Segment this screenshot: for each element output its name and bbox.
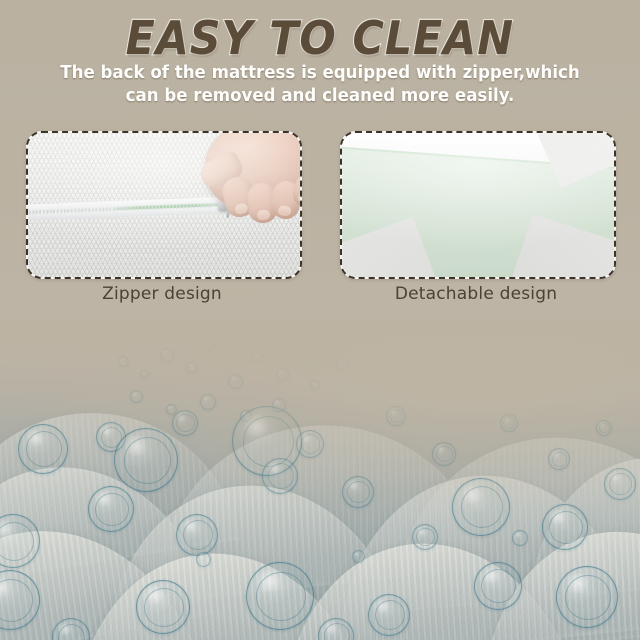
headline-container: EASY TO CLEAN — [0, 12, 640, 64]
bubble — [300, 346, 309, 355]
bubble — [172, 410, 198, 436]
bubble — [336, 358, 348, 370]
bubble — [88, 486, 134, 532]
bubble — [604, 468, 636, 500]
bubble — [176, 514, 218, 556]
caption-zipper-design: Zipper design — [26, 284, 298, 304]
product-feature-image: EASY TO CLEAN The back of the mattress i… — [0, 0, 640, 640]
bubble — [206, 340, 216, 350]
bubble — [228, 374, 243, 389]
bubble — [200, 394, 216, 410]
bubble — [542, 504, 588, 550]
bubble — [452, 478, 510, 536]
bubble — [114, 428, 178, 492]
bubble — [386, 406, 406, 426]
bubble — [160, 348, 174, 362]
bubble — [342, 476, 374, 508]
subtitle-line-1: The back of the mattress is equipped wit… — [54, 62, 586, 85]
bubble — [130, 390, 143, 403]
bubble — [432, 442, 456, 466]
bubble — [500, 414, 518, 432]
bubble — [18, 424, 68, 474]
caption-detachable-design: Detachable design — [340, 284, 612, 304]
bubble — [556, 566, 618, 628]
bubble — [262, 458, 298, 494]
subtitle: The back of the mattress is equipped wit… — [54, 62, 586, 108]
bubble — [412, 524, 438, 550]
bubble — [596, 420, 612, 436]
bubble — [474, 562, 522, 610]
page-title: EASY TO CLEAN — [126, 12, 514, 64]
bubble — [186, 362, 198, 374]
bubble — [118, 356, 129, 367]
bubble — [368, 594, 410, 636]
photo-top-fade — [0, 318, 640, 428]
bubble — [252, 352, 263, 363]
bubble — [136, 580, 190, 634]
bubble — [310, 380, 320, 390]
panel-lighting-overlay — [342, 133, 614, 277]
bubble — [548, 448, 570, 470]
bubble — [246, 562, 314, 630]
bubble — [140, 370, 149, 379]
breathable-fabric-photo — [0, 318, 640, 640]
panel-zipper-design — [26, 131, 302, 279]
panel-detachable-design — [340, 131, 616, 279]
bubble — [352, 550, 365, 563]
bubble — [276, 368, 289, 381]
subtitle-line-2: can be removed and cleaned more easily. — [54, 85, 586, 108]
panel-lighting-overlay — [28, 133, 300, 277]
bubble — [512, 530, 528, 546]
bubble — [196, 552, 211, 567]
